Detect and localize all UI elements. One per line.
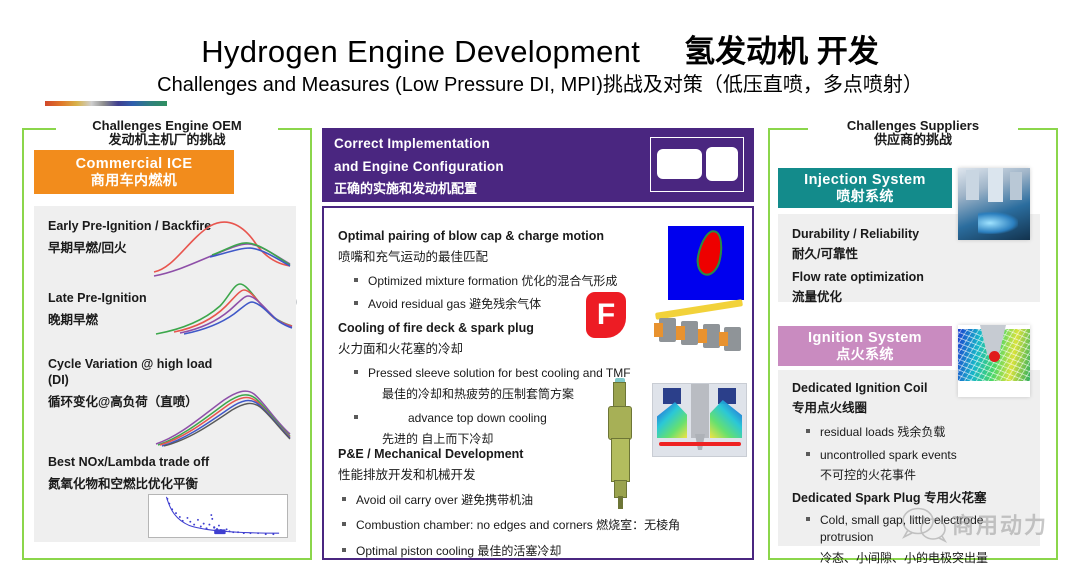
slide-root: Hydrogen Engine Development氢发动机 开发 Chall… [0,0,1080,574]
injection-photo [958,168,1030,240]
injection-system-header: Injection System 喷射系统 [778,168,952,208]
injection-line-0-cn: 耐久/可靠性 [792,246,924,263]
center-section-0-bullet-0: Optimized mixture formation 优化的混合气形成 [368,273,698,289]
injector-rail-image [651,300,747,354]
center-section-0-bullet-1: Avoid residual gas 避免残余气体 [368,296,698,312]
center-section-0: Optimal pairing of blow cap & charge mot… [338,228,698,313]
ignition-system-header: Ignition System 点火系统 [778,326,952,366]
fuel-rail-bar [655,299,743,320]
spark-plug-image [600,382,642,510]
right-caption-en: Challenges Suppliers [808,119,1018,133]
watermark: 商用动力 [900,506,1076,548]
injection-line-0-en: Durability / Reliability [792,226,924,242]
ignition-sub-heading: Dedicated Spark Plug 专用火花塞 [792,490,1032,506]
left-item-3-en: Best NOx/Lambda trade off [48,454,209,470]
injection-system-header-en: Injection System [804,172,926,189]
ignition-cfd-photo [958,325,1030,397]
ignition-line-0-cn: 专用点火线圈 [792,400,1032,417]
left-item-3-cn: 氮氧化物和空燃比优化平衡 [48,476,209,493]
injection-line-1-en: Flow rate optimization [792,269,924,285]
f-logo-icon: F [586,292,626,338]
center-section-0-heading-en: Optimal pairing of blow cap & charge mot… [338,228,698,244]
chart-nox-lambda [148,494,288,538]
left-panel: Challenges Engine OEM 发动机主机厂的挑战 Commerci… [22,128,312,560]
ignition-sub-bullet-1: 冷态、小间隙、小的电极突出量 [820,550,1032,566]
center-panel-header: Correct Implementation and Engine Config… [322,128,754,202]
f-logo-letter: F [586,292,626,338]
center-section-2: P&E / Mechanical Development 性能排放开发和机械开发… [338,446,738,559]
left-caption-en: Challenges Engine OEM [56,119,278,133]
left-caption-cn: 发动机主机厂的挑战 [56,133,278,147]
left-item-1-en: Late Pre-Ignition [48,290,147,306]
chart-late-pre-ignition [154,278,294,340]
center-section-2-bullet-2: Optimal piston cooling 最佳的活塞冷却 [356,543,738,559]
wechat-icon [900,506,948,544]
watermark-text: 商用动力 [952,508,1048,540]
center-section-0-heading-cn: 喷嘴和充气运动的最佳匹配 [338,249,698,266]
slide-title: Hydrogen Engine Development氢发动机 开发 [0,26,1080,71]
commercial-ice-header-cn: 商用车内燃机 [91,172,177,188]
right-caption-cn: 供应商的挑战 [808,133,1018,147]
commercial-ice-header-en: Commercial ICE [76,156,193,173]
ignition-bullet-0: residual loads 残余负载 [820,424,1032,440]
title-chinese: 氢发动机 开发 [684,34,879,69]
ignition-bullet-1: uncontrolled spark events [820,447,1032,463]
center-section-1-bullet-0: Pressed sleeve solution for best cooling… [368,365,706,381]
left-panel-caption: Challenges Engine OEM 发动机主机厂的挑战 [56,119,278,146]
gradient-rule [45,101,167,106]
center-section-2-heading-cn: 性能排放开发和机械开发 [338,467,738,484]
engine-config-thumbnail [650,137,744,192]
left-panel-body: Early Pre-Ignition / Backfire 早期早燃/回火 La… [34,206,296,542]
right-panel-caption: Challenges Suppliers 供应商的挑战 [808,119,1018,146]
injection-line-1-cn: 流量优化 [792,289,924,306]
ignition-system-header-cn: 点火系统 [836,346,894,362]
center-section-2-bullet-1: Combustion chamber: no edges and corners… [356,517,738,533]
left-item-1-cn: 晚期早燃 [48,312,147,329]
cfd-mixture-image [668,226,744,304]
chart-cycle-variation [152,384,292,448]
slide-subtitle: Challenges and Measures (Low Pressure DI… [0,68,1080,97]
cfd-spray-plume [693,228,726,278]
cfd-plug-cooling-image [652,383,747,457]
commercial-ice-header: Commercial ICE 商用车内燃机 [34,150,234,194]
injection-system-header-cn: 喷射系统 [836,188,894,204]
title-english: Hydrogen Engine Development [201,34,640,69]
chart-early-pre-ignition [152,210,292,278]
center-section-2-bullet-0: Avoid oil carry over 避免携带机油 [356,492,738,508]
ignition-bullet-2: 不可控的火花事件 [820,467,1032,483]
ignition-system-header-en: Ignition System [808,330,922,347]
